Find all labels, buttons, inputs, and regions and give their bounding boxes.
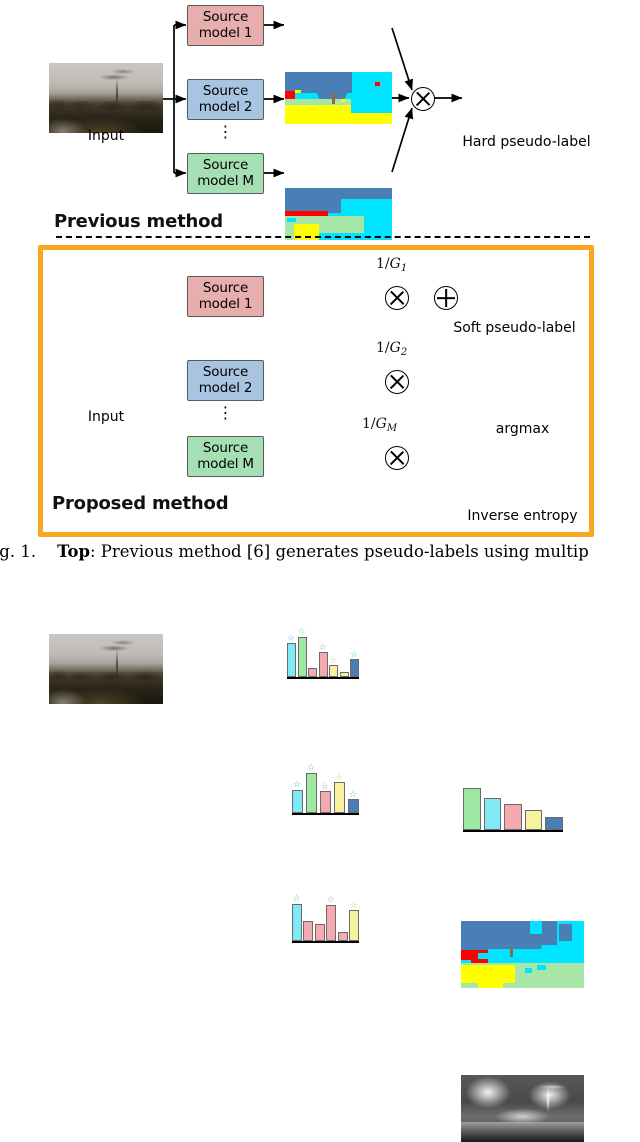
bar-c4 [326,905,336,942]
proposed-input-image [49,634,163,704]
previous-vertical-dots: ⋮ [187,128,264,137]
weight-numerator: 1/ [376,256,390,272]
previous-segmap-2 [285,188,392,240]
star-icon: ☆ [335,774,343,783]
bar-c1 [463,788,481,831]
bar-c1 [287,643,296,677]
bar-c2 [298,637,307,678]
bar-c3 [504,804,522,830]
model-line2: model 1 [199,297,253,312]
model-line2: model 2 [199,100,253,115]
weight-label-m: 1/GM [362,416,397,434]
previous-source-model-m[interactable]: Source model M [187,153,264,194]
bar-c2 [484,798,502,831]
multiply-operator-2 [385,370,409,394]
star-icon: ☆ [350,651,358,660]
argmax-caption: argmax [461,421,584,437]
bar-c5 [545,817,563,830]
bar-c7 [350,659,359,677]
proposed-source-model-m[interactable]: Source model M [187,436,264,477]
model-line2: model 2 [199,381,253,396]
weight-label-1: 1/G1 [376,256,407,274]
multiply-operator-m [385,446,409,470]
proposed-vertical-dots: ⋮ [187,409,264,418]
star-icon: ☆ [327,896,335,905]
star-icon: ☆ [350,902,358,911]
proposed-source-model-1[interactable]: Source model 1 [187,276,264,317]
star-icon: ☆ [307,764,315,773]
bar-c6 [349,910,359,941]
star-icon: ☆ [329,657,337,666]
sum-operator [434,286,458,310]
previous-output-label: Hard pseudo-label [452,134,601,150]
bar-c4 [319,652,328,677]
multiply-operator-1 [385,286,409,310]
figure-root: Input Source model 1 Source model 2 ⋮ So… [0,0,640,571]
weight-subscript: M [387,423,397,434]
bar-c5 [338,932,348,941]
model-line1: Source [203,281,248,296]
bar-c4 [334,782,345,813]
weight-numerator: 1/ [376,340,390,356]
previous-method-section-label: Previous method [54,211,223,232]
bar-c1 [292,790,303,814]
inverse-entropy-caption: Inverse entropy [452,508,593,524]
bar-c4 [525,810,543,830]
caption-rest: : Previous method [6] generates pseudo-l… [90,542,589,561]
bar-c5 [329,665,338,677]
bar-c3 [308,668,317,677]
previous-input-image [49,63,163,133]
proposed-input-label: Input [49,409,163,425]
weight-label-2: 1/G2 [376,340,407,358]
previous-segmap-1 [285,72,392,124]
weight-subscript: 1 [401,263,407,274]
bar-c5 [348,799,359,813]
previous-input-label: Input [49,128,163,144]
star-icon: ☆ [298,628,306,637]
argmax-segmap [461,921,584,988]
star-icon: ☆ [287,635,295,644]
previous-multiply-operator [411,87,435,111]
weight-symbol: G [376,416,387,432]
model-line1: Source [203,365,248,380]
bar-c3 [320,791,331,813]
previous-source-model-2[interactable]: Source model 2 [187,79,264,120]
caption-bold: Top [57,542,90,561]
bar-c3 [315,924,325,941]
inverse-entropy-map [461,1075,584,1142]
soft-pseudo-label-chart [463,779,563,832]
proposed-source-model-2[interactable]: Source model 2 [187,360,264,401]
section-divider [56,236,590,238]
histogram-model-m: ☆☆☆ [292,891,359,943]
model-line2: model 1 [199,26,253,41]
model-line1: Source [203,10,248,25]
bar-c6 [340,672,349,678]
star-icon: ☆ [292,895,300,904]
star-icon: ☆ [321,783,329,792]
bar-c1 [292,904,302,942]
model-line1: Source [203,158,248,173]
histogram-model-2: ☆☆☆☆☆ [292,763,359,815]
caption-prefix: ig. 1. [0,542,36,561]
star-icon: ☆ [319,644,327,653]
weight-symbol: G [390,256,401,272]
star-icon: ☆ [293,781,301,790]
previous-source-model-1[interactable]: Source model 1 [187,5,264,46]
figure-caption: ig. 1. Top: Previous method [6] generate… [0,542,589,561]
proposed-method-section-label: Proposed method [52,493,228,514]
weight-numerator: 1/ [362,416,376,432]
bar-c2 [306,773,317,814]
model-line2: model M [197,457,254,472]
weight-subscript: 2 [401,347,407,358]
model-line1: Source [203,84,248,99]
bar-c2 [303,921,313,942]
histogram-model-1: ☆☆☆☆☆ [287,627,359,679]
model-line2: model M [197,174,254,189]
soft-pseudo-label-caption: Soft pseudo-label [452,320,577,336]
star-icon: ☆ [349,791,357,800]
weight-symbol: G [390,340,401,356]
model-line1: Source [203,441,248,456]
